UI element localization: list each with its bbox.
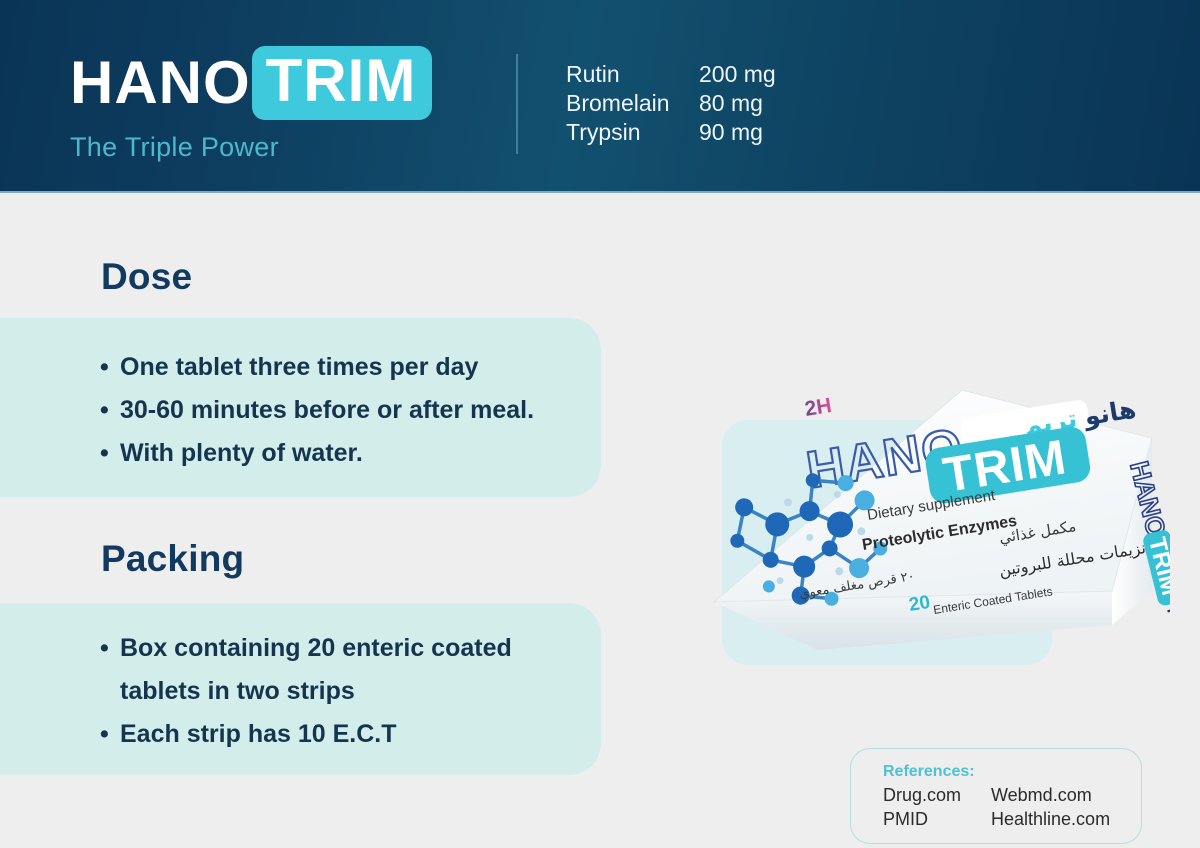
ingredient-row: Trypsin 90 mg	[566, 118, 776, 147]
reference-item[interactable]: PMID	[883, 807, 991, 831]
ingredient-list: Rutin 200 mg Bromelain 80 mg Trypsin 90 …	[566, 60, 776, 148]
bullet-marker-icon: •	[100, 346, 120, 389]
ingredient-row: Rutin 200 mg	[566, 60, 776, 89]
ingredient-amount: 200 mg	[699, 60, 776, 89]
product-image: 2H تريم هانو HANO TRIM	[700, 378, 1170, 688]
header-divider	[516, 54, 518, 154]
ingredient-name: Rutin	[566, 60, 699, 89]
brand-tagline: The Triple Power	[70, 132, 432, 163]
list-item: • One tablet three times per day	[100, 346, 575, 389]
bullet-marker-icon: •	[100, 432, 120, 475]
ingredient-row: Bromelain 80 mg	[566, 89, 776, 118]
list-item: • Each strip has 10 E.C.T	[100, 713, 575, 756]
reference-item[interactable]: Drug.com	[883, 783, 991, 807]
ingredient-amount: 80 mg	[699, 89, 763, 118]
brand-logo: HANO TRIM	[70, 46, 432, 120]
svg-text:هانو: هانو	[1080, 394, 1138, 432]
brand-logo-accent: TRIM	[252, 46, 433, 120]
bullet-marker-icon: •	[100, 627, 120, 713]
packing-bullet-list: • Box containing 20 enteric coated table…	[100, 627, 575, 756]
references-column-right: Webmd.com Healthline.com	[991, 783, 1110, 831]
count-number: 20	[907, 592, 931, 616]
ingredient-amount: 90 mg	[699, 118, 763, 147]
list-item: • With plenty of water.	[100, 432, 575, 475]
manufacturer-mark: 2H	[803, 394, 833, 421]
brand-logo-primary: HANO	[70, 53, 251, 113]
ingredient-name: Trypsin	[566, 118, 699, 147]
list-item-text: One tablet three times per day	[120, 346, 575, 389]
reference-item[interactable]: Webmd.com	[991, 783, 1110, 807]
reference-item[interactable]: Healthline.com	[991, 807, 1110, 831]
references-title: References:	[883, 763, 1141, 781]
dose-card: • One tablet three times per day • 30-60…	[0, 318, 601, 497]
list-item-text: With plenty of water.	[120, 432, 575, 475]
list-item-text: Box containing 20 enteric coated tablets…	[120, 627, 575, 713]
bullet-marker-icon: •	[100, 713, 120, 756]
list-item: • Box containing 20 enteric coated table…	[100, 627, 575, 713]
page-header: HANO TRIM The Triple Power Rutin 200 mg …	[0, 0, 1200, 193]
brand-lockup: HANO TRIM The Triple Power	[70, 46, 432, 163]
dose-bullet-list: • One tablet three times per day • 30-60…	[100, 346, 575, 475]
references-box: References: Drug.com PMID Webmd.com Heal…	[850, 748, 1142, 844]
ingredient-name: Bromelain	[566, 89, 699, 118]
side-brand-arabic: هانوتريم	[1166, 606, 1170, 663]
list-item-text: 30-60 minutes before or after meal.	[120, 389, 575, 432]
product-box-illustration: 2H تريم هانو HANO TRIM	[700, 378, 1170, 688]
packing-section-title: Packing	[101, 538, 244, 580]
references-column-left: Drug.com PMID	[883, 783, 991, 831]
list-item-text: Each strip has 10 E.C.T	[120, 713, 575, 756]
dose-section-title: Dose	[101, 256, 192, 298]
bullet-marker-icon: •	[100, 389, 120, 432]
packing-card: • Box containing 20 enteric coated table…	[0, 603, 601, 775]
references-columns: Drug.com PMID Webmd.com Healthline.com	[883, 783, 1141, 831]
list-item: • 30-60 minutes before or after meal.	[100, 389, 575, 432]
